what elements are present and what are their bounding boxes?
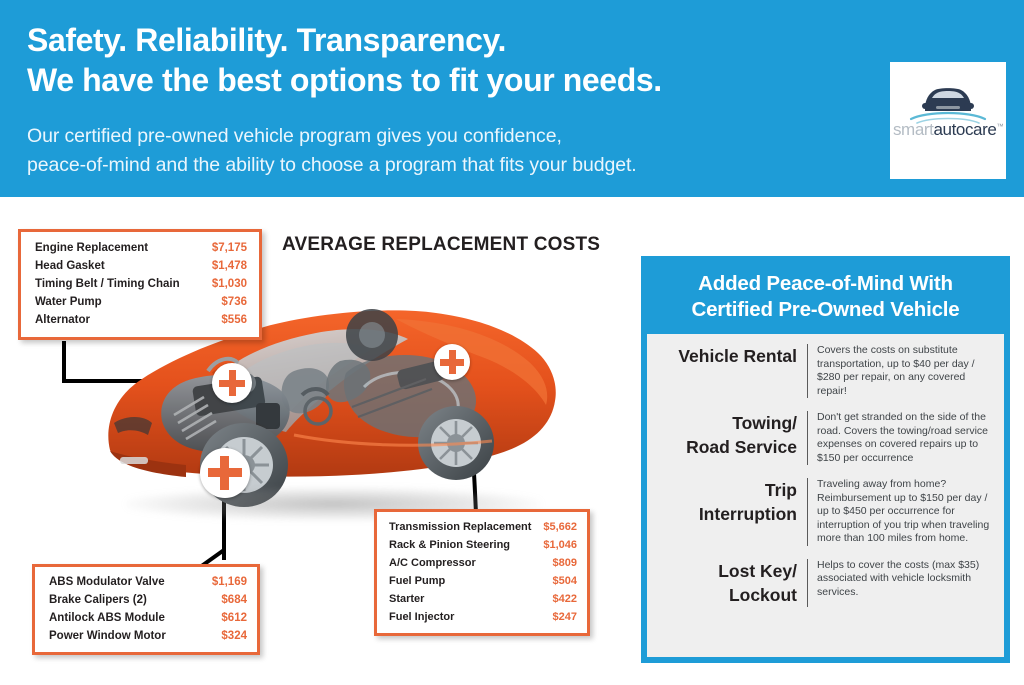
table-row: Head Gasket$1,478 [35, 257, 247, 275]
benefit-label-line: Towing/ [655, 411, 797, 435]
part-cost: $1,030 [206, 275, 248, 293]
benefit-label-line: Vehicle Rental [655, 344, 797, 368]
benefit-label-line: Lockout [655, 583, 797, 607]
subheadline-line-1: Our certified pre-owned vehicle program … [27, 122, 867, 151]
benefit-label: Vehicle Rental [655, 344, 807, 398]
table-row: Rack & Pinion Steering$1,046 [389, 536, 577, 554]
part-cost: $1,046 [541, 536, 577, 554]
table-row: A/C Compressor$809 [389, 554, 577, 572]
cost-table: Transmission Replacement$5,662Rack & Pin… [389, 518, 577, 626]
benefit-row: Towing/Road ServiceDon't get stranded on… [655, 411, 994, 465]
benefit-row: Lost Key/LockoutHelps to cover the costs… [655, 559, 994, 607]
table-row: Brake Calipers (2)$684 [49, 591, 247, 609]
cost-table-transmission: Transmission Replacement$5,662Rack & Pin… [374, 509, 590, 636]
logo-wordmark: smartautocare™ [890, 120, 1006, 140]
part-name: Timing Belt / Timing Chain [35, 275, 206, 293]
benefits-header-line-2: Certified Pre-Owned Vehicle [653, 297, 998, 323]
part-cost: $5,662 [541, 518, 577, 536]
connector-engine-vertical [62, 341, 66, 383]
table-row: Antilock ABS Module$612 [49, 609, 247, 627]
logo-word-autocare: autocare [933, 120, 996, 139]
benefit-label: Towing/Road Service [655, 411, 807, 465]
plus-icon-stem [229, 370, 236, 396]
benefits-panel-header: Added Peace-of-Mind With Certified Pre-O… [647, 262, 1004, 334]
part-cost: $422 [541, 590, 577, 608]
table-row: Fuel Injector$247 [389, 608, 577, 626]
subheadline-line-2: peace-of-mind and the ability to choose … [27, 151, 867, 180]
part-name: Antilock ABS Module [49, 609, 201, 627]
part-cost: $556 [206, 311, 248, 329]
part-name: Rack & Pinion Steering [389, 536, 541, 554]
part-name: ABS Modulator Valve [49, 573, 201, 591]
part-name: Fuel Injector [389, 608, 541, 626]
benefit-description: Don't get stranded on the side of the ro… [808, 411, 994, 465]
table-row: ABS Modulator Valve$1,169 [49, 573, 247, 591]
benefits-panel: Added Peace-of-Mind With Certified Pre-O… [641, 256, 1010, 663]
part-cost: $7,175 [206, 239, 248, 257]
table-row: Power Window Motor$324 [49, 627, 247, 645]
engine-marker[interactable] [212, 363, 252, 403]
part-cost: $247 [541, 608, 577, 626]
benefit-row: Vehicle RentalCovers the costs on substi… [655, 344, 994, 398]
headline: Safety. Reliability. Transparency. We ha… [27, 20, 877, 100]
table-row: Transmission Replacement$5,662 [389, 518, 577, 536]
part-cost: $504 [541, 572, 577, 590]
part-name: Starter [389, 590, 541, 608]
table-row: Alternator$556 [35, 311, 247, 329]
brakes-marker[interactable] [200, 448, 250, 498]
part-cost: $612 [201, 609, 247, 627]
benefit-label: Lost Key/Lockout [655, 559, 807, 607]
headline-line-1: Safety. Reliability. Transparency. [27, 22, 506, 58]
part-cost: $809 [541, 554, 577, 572]
benefit-description: Traveling away from home? Reimbursement … [808, 478, 994, 546]
benefits-header-line-1: Added Peace-of-Mind With [653, 271, 998, 297]
part-name: Brake Calipers (2) [49, 591, 201, 609]
headline-line-2: We have the best options to fit your nee… [27, 60, 877, 100]
plus-icon-stem [220, 456, 229, 490]
cost-table-engine: Engine Replacement$7,175Head Gasket$1,47… [18, 229, 262, 340]
brand-logo: smartautocare™ [890, 62, 1006, 179]
part-cost: $1,169 [201, 573, 247, 591]
part-name: Power Window Motor [49, 627, 201, 645]
part-name: Transmission Replacement [389, 518, 541, 536]
benefit-label: TripInterruption [655, 478, 807, 546]
benefit-description: Helps to cover the costs (max $35) assoc… [808, 559, 994, 607]
benefit-row: TripInterruptionTraveling away from home… [655, 478, 994, 546]
benefit-label-line: Interruption [655, 502, 797, 526]
benefits-list: Vehicle RentalCovers the costs on substi… [647, 334, 1004, 617]
plus-icon-stem [449, 350, 456, 374]
benefit-label-line: Trip [655, 478, 797, 502]
transmission-marker[interactable] [434, 344, 470, 380]
logo-trademark: ™ [996, 123, 1003, 130]
infographic-page: Safety. Reliability. Transparency. We ha… [0, 0, 1024, 685]
cost-table: Engine Replacement$7,175Head Gasket$1,47… [35, 239, 247, 329]
table-row: Timing Belt / Timing Chain$1,030 [35, 275, 247, 293]
part-cost: $324 [201, 627, 247, 645]
part-cost: $736 [206, 293, 248, 311]
part-cost: $1,478 [206, 257, 248, 275]
benefit-label-line: Road Service [655, 435, 797, 459]
table-row: Water Pump$736 [35, 293, 247, 311]
part-name: Alternator [35, 311, 206, 329]
part-name: Engine Replacement [35, 239, 206, 257]
table-row: Engine Replacement$7,175 [35, 239, 247, 257]
part-name: Fuel Pump [389, 572, 541, 590]
cost-table-abs: ABS Modulator Valve$1,169Brake Calipers … [32, 564, 260, 655]
table-row: Fuel Pump$504 [389, 572, 577, 590]
benefit-description: Covers the costs on substitute transport… [808, 344, 994, 398]
cost-table: ABS Modulator Valve$1,169Brake Calipers … [49, 573, 247, 645]
logo-word-smart: smart [893, 120, 934, 139]
header-banner: Safety. Reliability. Transparency. We ha… [0, 0, 1024, 197]
part-name: Head Gasket [35, 257, 206, 275]
part-cost: $684 [201, 591, 247, 609]
table-row: Starter$422 [389, 590, 577, 608]
part-name: Water Pump [35, 293, 206, 311]
part-name: A/C Compressor [389, 554, 541, 572]
benefit-label-line: Lost Key/ [655, 559, 797, 583]
subheadline: Our certified pre-owned vehicle program … [27, 122, 867, 180]
section-title: AVERAGE REPLACEMENT COSTS [282, 234, 600, 256]
